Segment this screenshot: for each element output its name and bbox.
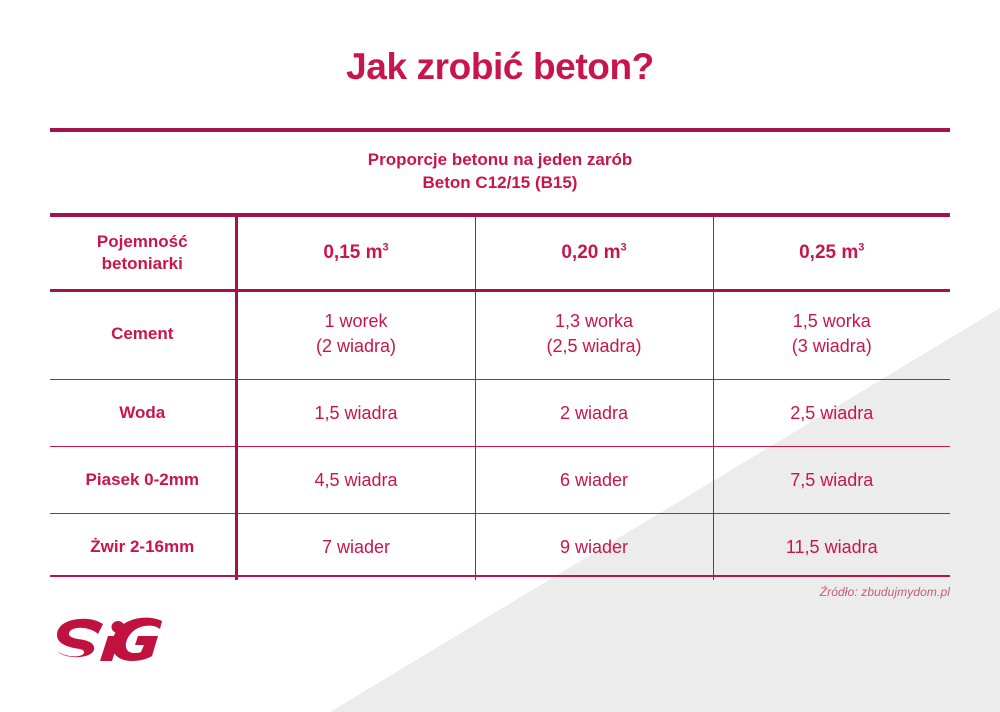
caption-line-1: Proporcje betonu na jeden zarób xyxy=(368,150,632,169)
header-capacity-3: 0,25 m3 xyxy=(713,217,950,289)
table-header-row: Pojemność betoniarki 0,15 m3 0,20 m3 0,2… xyxy=(50,217,950,289)
header-capacity-2: 0,20 m3 xyxy=(475,217,713,289)
table-caption: Proporcje betonu na jeden zarób Beton C1… xyxy=(0,148,1000,194)
cell-zwir-025: 11,5 wiadra xyxy=(713,514,950,581)
header-label-line-2: betoniarki xyxy=(102,254,183,273)
rule-header-divider xyxy=(50,289,950,292)
rule-table-bottom xyxy=(50,575,950,577)
row-label-zwir: Żwir 2-16mm xyxy=(50,514,236,581)
cell-piasek-015: 4,5 wiadra xyxy=(236,447,475,514)
cell-woda-025: 2,5 wiadra xyxy=(713,380,950,447)
cell-woda-015: 1,5 wiadra xyxy=(236,380,475,447)
sig-logo xyxy=(50,614,170,670)
page-title: Jak zrobić beton? xyxy=(0,46,1000,88)
row-label-woda: Woda xyxy=(50,380,236,447)
cell-woda-020: 2 wiadra xyxy=(475,380,713,447)
cell-zwir-020: 9 wiader xyxy=(475,514,713,581)
table-row: Cement 1 worek (2 wiadra) 1,3 worka (2,5… xyxy=(50,289,950,380)
cell-main: 1,3 worka xyxy=(555,311,633,331)
table-row: Piasek 0-2mm 4,5 wiadra 6 wiader 7,5 wia… xyxy=(50,447,950,514)
cell-main: 1 worek xyxy=(324,311,387,331)
cell-sub: (2,5 wiadra) xyxy=(476,334,713,359)
header-capacity-1-value: 0,15 m xyxy=(323,242,382,263)
header-capacity-1-exponent: 3 xyxy=(383,242,389,254)
source-attribution: Źródło: zbudujmydom.pl xyxy=(820,585,950,599)
cell-cement-015: 1 worek (2 wiadra) xyxy=(236,289,475,380)
cell-sub: (2 wiadra) xyxy=(238,334,475,359)
infographic-page: Jak zrobić beton? Proporcje betonu na je… xyxy=(0,0,1000,712)
caption-line-2: Beton C12/15 (B15) xyxy=(0,171,1000,194)
cell-main: 1,5 worka xyxy=(793,311,871,331)
header-capacity-2-exponent: 3 xyxy=(621,242,627,254)
cell-cement-025: 1,5 worka (3 wiadra) xyxy=(713,289,950,380)
header-label-cell: Pojemność betoniarki xyxy=(50,217,236,289)
table-row: Żwir 2-16mm 7 wiader 9 wiader 11,5 wiadr… xyxy=(50,514,950,581)
table-row: Woda 1,5 wiadra 2 wiadra 2,5 wiadra xyxy=(50,380,950,447)
header-capacity-3-exponent: 3 xyxy=(858,242,864,254)
cell-cement-020: 1,3 worka (2,5 wiadra) xyxy=(475,289,713,380)
cell-sub: (3 wiadra) xyxy=(714,334,951,359)
header-capacity-2-value: 0,20 m xyxy=(561,242,620,263)
cell-piasek-025: 7,5 wiadra xyxy=(713,447,950,514)
header-label-line-1: Pojemność xyxy=(97,232,188,251)
concrete-proportions-table: Pojemność betoniarki 0,15 m3 0,20 m3 0,2… xyxy=(50,217,950,580)
header-capacity-3-value: 0,25 m xyxy=(799,242,858,263)
row-label-cement: Cement xyxy=(50,289,236,380)
row-label-piasek: Piasek 0-2mm xyxy=(50,447,236,514)
rule-top-divider xyxy=(50,128,950,132)
header-capacity-1: 0,15 m3 xyxy=(236,217,475,289)
cell-piasek-020: 6 wiader xyxy=(475,447,713,514)
cell-zwir-015: 7 wiader xyxy=(236,514,475,581)
